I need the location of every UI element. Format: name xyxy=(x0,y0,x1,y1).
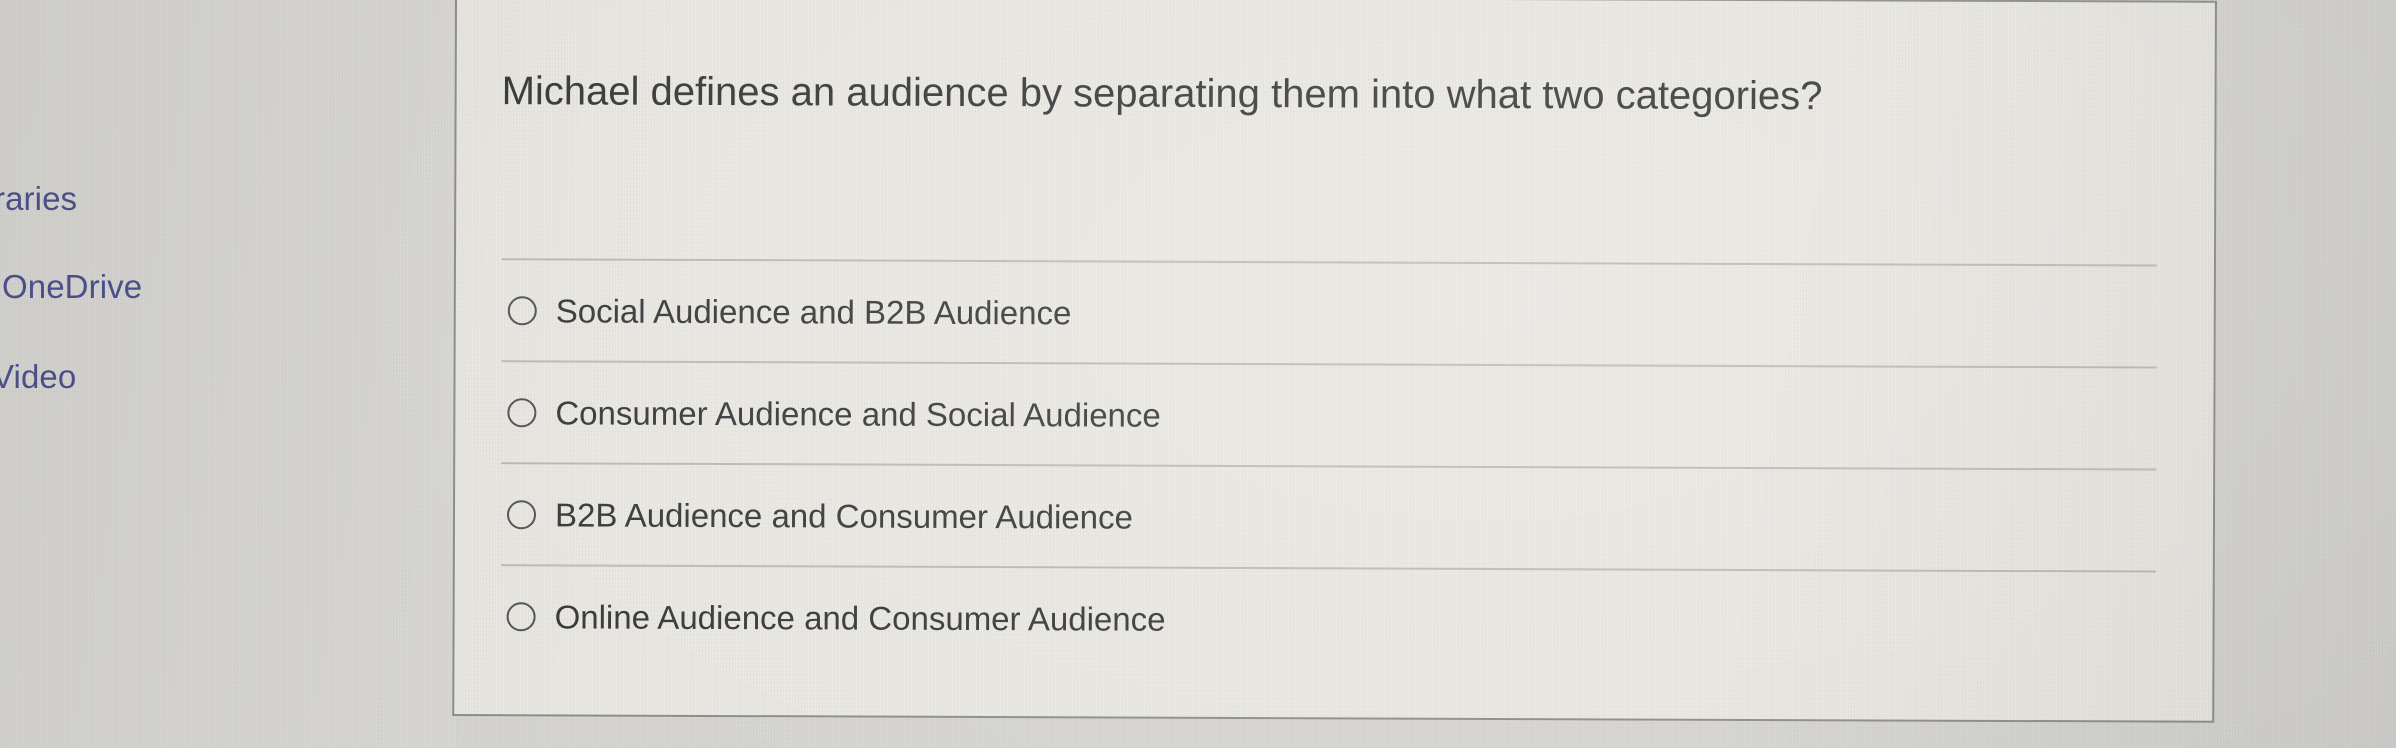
answer-option-label: Consumer Audience and Social Audience xyxy=(555,396,1161,431)
answer-options-list: Social Audience and B2B Audience Consume… xyxy=(500,258,2157,672)
question-prompt: Michael defines an audience by separatin… xyxy=(502,66,1823,121)
radio-button-icon[interactable] xyxy=(507,500,536,529)
answer-option[interactable]: B2B Audience and Consumer Audience xyxy=(501,462,2156,570)
radio-button-icon[interactable] xyxy=(508,296,537,325)
answer-option-label: Online Audience and Consumer Audience xyxy=(555,600,1166,635)
question-card: Michael defines an audience by separatin… xyxy=(452,0,2217,723)
answer-option[interactable]: Social Audience and B2B Audience xyxy=(502,258,2157,366)
sidebar-nav: raries OneDrive Video xyxy=(0,0,456,748)
sidebar-item-onedrive[interactable]: OneDrive xyxy=(2,268,142,306)
radio-button-icon[interactable] xyxy=(507,602,536,631)
sidebar-item-libraries[interactable]: raries xyxy=(0,180,77,218)
answer-option-label: Social Audience and B2B Audience xyxy=(556,294,1072,329)
radio-button-icon[interactable] xyxy=(507,398,536,427)
answer-option[interactable]: Consumer Audience and Social Audience xyxy=(501,360,2156,468)
answer-option[interactable]: Online Audience and Consumer Audience xyxy=(500,564,2155,672)
answer-option-label: B2B Audience and Consumer Audience xyxy=(555,498,1133,533)
screenshot-stage: raries OneDrive Video Michael defines an… xyxy=(0,0,2396,748)
sidebar-item-video[interactable]: Video xyxy=(0,358,76,396)
